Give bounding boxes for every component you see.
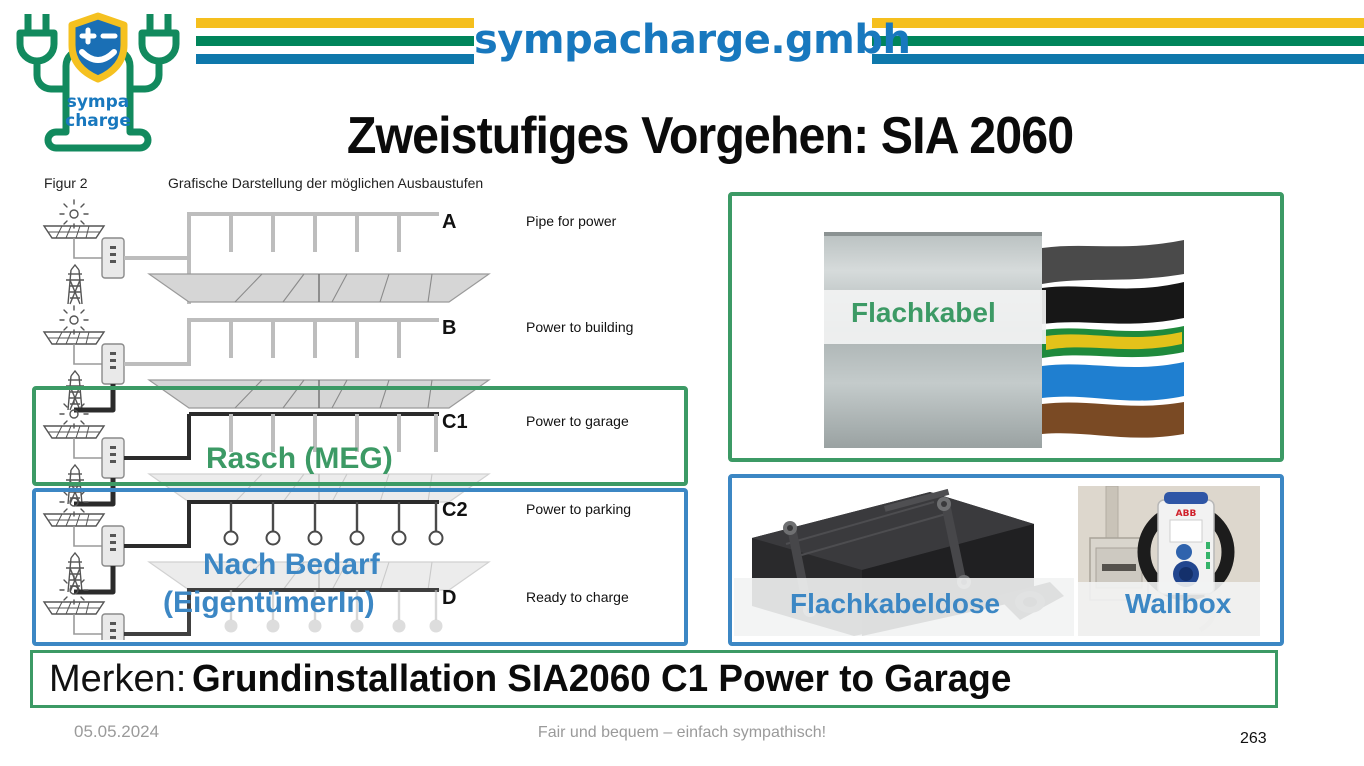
highlight-box-dose-wallbox[interactable]	[728, 474, 1284, 646]
row-letter-b: B	[442, 317, 456, 339]
stripe-blue	[196, 54, 474, 64]
logo-line1: sympa	[67, 92, 130, 112]
stripe-blue	[872, 54, 1364, 64]
diagram-row-a	[44, 200, 489, 304]
row-letter-a: A	[442, 211, 456, 233]
figure-number: Figur 2	[44, 175, 168, 191]
stripe-yellow	[196, 18, 474, 28]
footer-slogan: Fair und bequem – einfach sympathisch!	[0, 724, 1364, 742]
page-title: Zweistufiges Vorgehen: SIA 2060	[236, 106, 1185, 166]
overlay-caption-nach-bedarf: Nach Bedarf	[203, 548, 380, 582]
logo-line2: charge	[65, 111, 131, 131]
footer-page-number: 263	[1240, 730, 1267, 748]
logo-svg: sympa charge	[8, 2, 188, 160]
highlight-box-flachkabel[interactable]	[728, 192, 1284, 462]
merken-prefix: Merken:	[49, 658, 186, 701]
stripe-green	[872, 36, 1364, 46]
stripe-yellow	[872, 18, 1364, 28]
merken-banner: Merken: Grundinstallation SIA2060 C1 Pow…	[30, 650, 1278, 708]
row-label-b: Power to building	[526, 319, 633, 335]
shield-icon	[72, 16, 124, 79]
header-stripes-right	[872, 18, 1364, 64]
slide-header: sympacharge.gmbh	[0, 0, 1364, 80]
brand-wordmark: sympacharge.gmbh	[474, 16, 872, 64]
overlay-caption-eigentuemerin: (EigentümerIn)	[163, 586, 375, 620]
sympacharge-logo: sympa charge	[8, 2, 188, 160]
figure-caption-text: Grafische Darstellung der möglichen Ausb…	[168, 175, 483, 191]
header-stripes-left	[196, 18, 474, 64]
overlay-caption-rasch: Rasch (MEG)	[206, 442, 393, 476]
figure-caption: Figur 2Grafische Darstellung der möglich…	[44, 175, 704, 191]
merken-emphasis: Grundinstallation SIA2060 C1 Power to Ga…	[192, 658, 1011, 701]
stripe-green	[196, 36, 474, 46]
row-label-a: Pipe for power	[526, 213, 617, 229]
